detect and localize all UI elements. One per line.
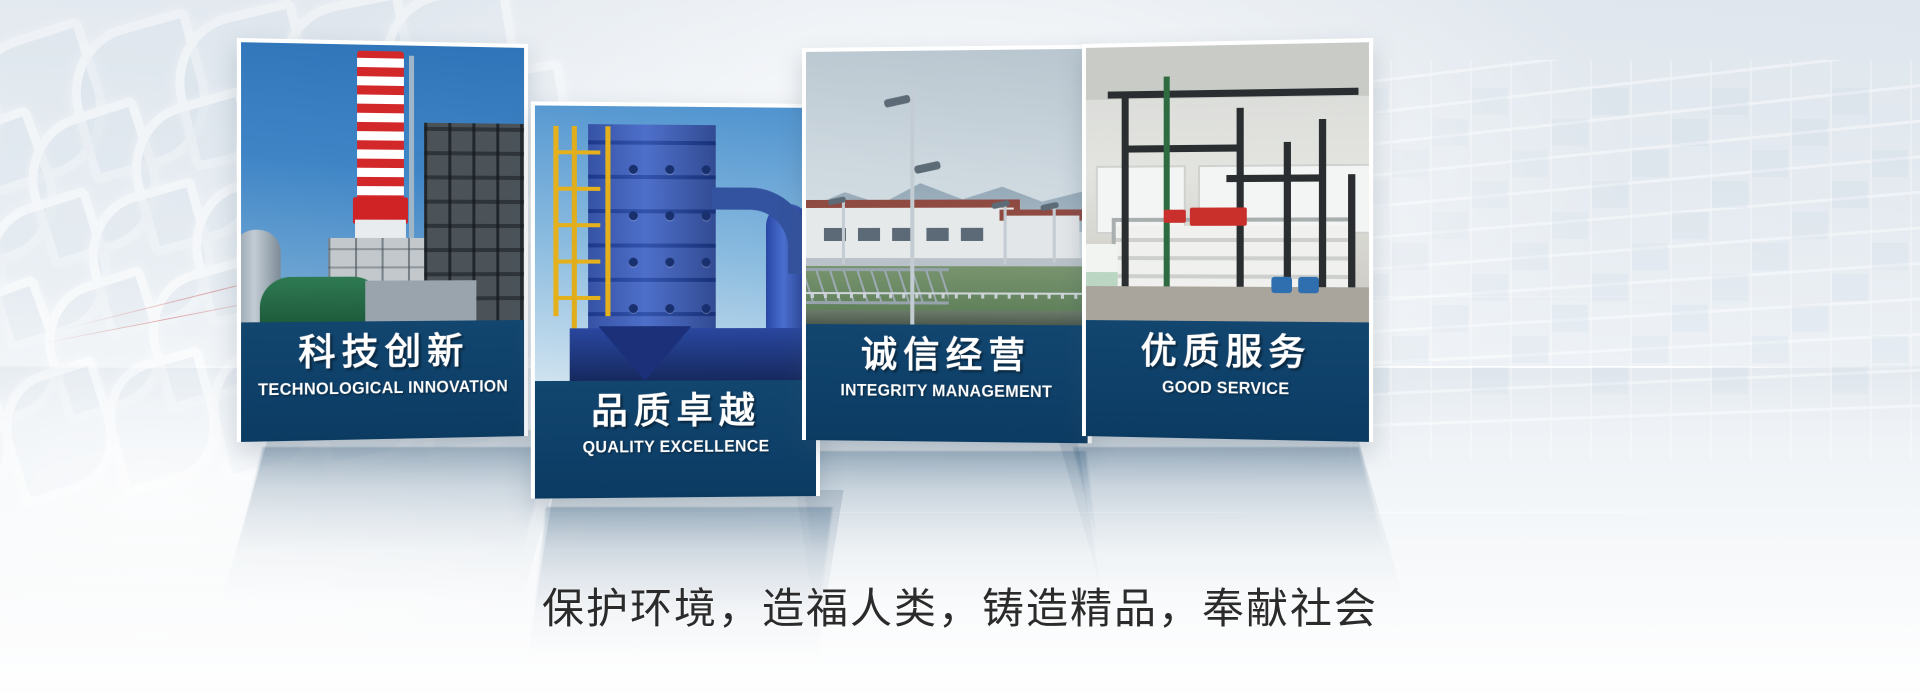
facade-pane [1432,119,1468,146]
value-title-cn: 优质服务 [1086,332,1369,372]
facade-pane [1632,243,1668,270]
dust-collector-equipment-photo [535,105,816,381]
value-title-en: TECHNOLOGICAL INNOVATION [251,377,514,398]
value-card-technological-innovation[interactable]: 科技创新 TECHNOLOGICAL INNOVATION [237,38,528,442]
facade-pane [1432,305,1468,332]
value-card-good-service[interactable]: 优质服务 GOOD SERVICE [1082,38,1373,442]
value-card-caption: 诚信经营 INTEGRITY MANAGEMENT [806,324,1088,443]
facade-mullion [1470,60,1472,460]
facade-pane [1832,367,1868,394]
value-title-en: GOOD SERVICE [1096,377,1359,398]
glass-facade-background-graphic [1340,60,1920,460]
facade-pane [1392,336,1428,363]
facade-pane [1752,150,1788,177]
facade-pane [1552,305,1588,332]
facade-pane [1512,243,1548,270]
facade-pane [1792,212,1828,239]
facade-pane [1672,305,1708,332]
facade-pane [1472,274,1508,301]
wastewater-treatment-plant-photo [806,49,1088,326]
value-title-en: QUALITY EXCELLENCE [545,437,806,456]
facade-pane [1552,119,1588,146]
facade-pane [1392,243,1428,270]
facade-pane [1632,336,1668,363]
facade-pane [1792,305,1828,332]
facade-pane [1872,243,1908,270]
facade-pane [1832,181,1868,208]
facade-pane [1792,119,1828,146]
value-card-caption: 优质服务 GOOD SERVICE [1086,320,1369,442]
facade-pane [1712,181,1748,208]
facade-pane [1632,150,1668,177]
facade-pane [1872,150,1908,177]
facade-pane [1712,88,1748,115]
facade-pane [1472,88,1508,115]
value-card-caption: 品质卓越 QUALITY EXCELLENCE [535,380,816,499]
facade-mullion [1710,60,1712,460]
water-treatment-membrane-room-photo [1086,42,1369,322]
value-card-integrity-management[interactable]: 诚信经营 INTEGRITY MANAGEMENT [802,45,1092,444]
facade-pane [1872,336,1908,363]
company-values-banner: 科技创新 TECHNOLOGICAL INNOVATION [0,0,1920,700]
facade-pane [1592,181,1628,208]
facade-pane [1552,212,1588,239]
facade-pane [1472,181,1508,208]
facade-pane [1832,274,1868,301]
facade-pane [1672,212,1708,239]
value-title-cn: 科技创新 [241,332,524,372]
facade-pane [1592,88,1628,115]
facade-mullion [1910,60,1912,460]
facade-pane [1712,274,1748,301]
facade-mullion [1590,60,1592,460]
value-title-cn: 品质卓越 [535,392,816,430]
facade-pane [1712,367,1748,394]
facade-pane [1392,150,1428,177]
value-card-quality-excellence[interactable]: 品质卓越 QUALITY EXCELLENCE [531,101,820,498]
facade-pane [1472,367,1508,394]
power-plant-chimney-photo [241,42,524,322]
facade-pane [1432,212,1468,239]
facade-pane [1592,274,1628,301]
value-title-en: INTEGRITY MANAGEMENT [816,381,1078,400]
facade-pane [1672,119,1708,146]
value-title-cn: 诚信经营 [806,336,1088,374]
facade-mullion [1830,60,1832,460]
facade-pane [1512,150,1548,177]
company-slogan: 保护环境，造福人类，铸造精品，奉献社会 [0,575,1920,636]
facade-pane [1832,88,1868,115]
facade-pane [1592,367,1628,394]
facade-pane [1752,243,1788,270]
value-card-caption: 科技创新 TECHNOLOGICAL INNOVATION [241,320,524,442]
facade-pane [1752,336,1788,363]
facade-pane [1512,336,1548,363]
